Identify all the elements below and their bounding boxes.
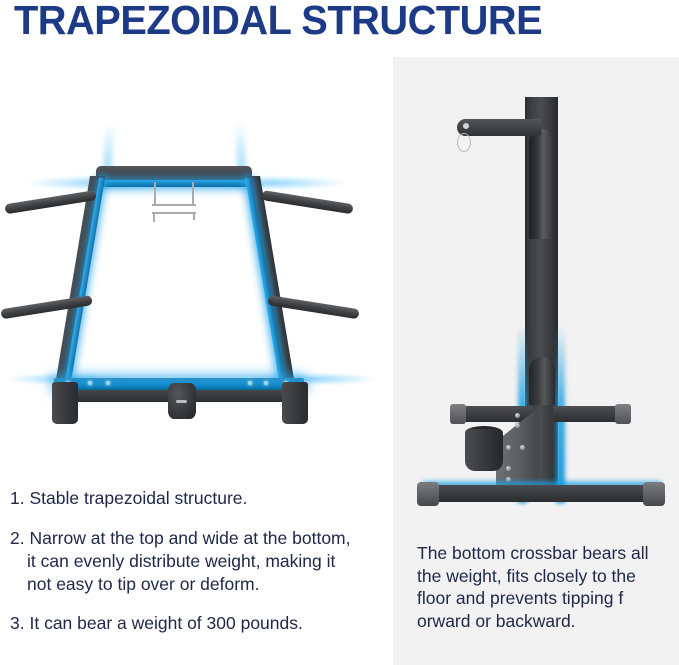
base-foot-left bbox=[417, 482, 439, 506]
post-sleeve-upper bbox=[529, 129, 555, 239]
list-item-text-line3: not easy to tip over or deform. bbox=[27, 574, 259, 594]
caption-line: orward or backward. bbox=[417, 610, 667, 633]
caption-line: floor and prevents tipping f bbox=[417, 587, 667, 610]
list-item-text-line1: Narrow at the top and wide at the bottom… bbox=[29, 528, 350, 548]
base-foot-left bbox=[52, 382, 78, 424]
crossbar-end-cap-left bbox=[450, 404, 466, 424]
crossbar-end-cap-right bbox=[615, 404, 631, 424]
page-title: TRAPEZOIDAL STRUCTURE bbox=[14, 0, 542, 42]
bottom-base-bar bbox=[421, 485, 663, 502]
hanger-wire-left bbox=[154, 182, 156, 204]
bolt bbox=[520, 445, 525, 450]
bolt bbox=[264, 381, 268, 385]
hanger-bar-upper bbox=[152, 204, 196, 206]
hanger-wire-right bbox=[192, 182, 194, 204]
list-item-number: 2. bbox=[10, 528, 25, 548]
hanger-hook-right bbox=[193, 212, 195, 220]
right-caption: The bottom crossbar bears all the weight… bbox=[417, 542, 667, 632]
weight-peg-upper-left bbox=[4, 190, 96, 214]
cup-holder bbox=[465, 429, 503, 471]
product-image-front-view bbox=[0, 120, 390, 465]
caption-line: the weight, fits closely to the bbox=[417, 565, 667, 588]
list-item: 1. Stable trapezoidal structure. bbox=[10, 487, 382, 510]
product-image-side-view bbox=[393, 57, 679, 527]
list-item-text: It can bear a weight of 300 pounds. bbox=[29, 613, 302, 633]
stabilizer-crossbar-left bbox=[455, 406, 533, 422]
top-crossbar-glow bbox=[99, 180, 249, 187]
hanger-hook bbox=[153, 212, 155, 222]
base-foot-right bbox=[643, 482, 665, 506]
bolt bbox=[515, 413, 520, 418]
feature-list: 1. Stable trapezoidal structure. 2. Narr… bbox=[10, 487, 382, 652]
caption-line: The bottom crossbar bears all bbox=[417, 542, 667, 565]
list-item: 3. It can bear a weight of 300 pounds. bbox=[10, 612, 382, 635]
bolt bbox=[248, 381, 252, 385]
bolt bbox=[88, 381, 92, 385]
base-foot-right bbox=[282, 382, 308, 424]
bolt bbox=[506, 445, 511, 450]
center-knob-slot bbox=[176, 400, 187, 403]
arm-pin-hole bbox=[463, 123, 469, 129]
bolt bbox=[106, 381, 110, 385]
list-item-text-line2: it can evenly distribute weight, making … bbox=[27, 551, 335, 571]
bolt bbox=[515, 423, 520, 428]
list-item-number: 1. bbox=[10, 488, 25, 508]
hanger-bar-lower bbox=[152, 212, 196, 214]
list-item-number: 3. bbox=[10, 613, 25, 633]
weight-peg-upper-right bbox=[261, 190, 353, 214]
pin-ring-icon bbox=[457, 133, 471, 152]
list-item: 2. Narrow at the top and wide at the bot… bbox=[10, 527, 382, 596]
top-support-arm bbox=[457, 119, 541, 136]
post-sleeve-lower bbox=[529, 357, 555, 405]
infographic-page: TRAPEZOIDAL STRUCTURE bbox=[0, 0, 679, 665]
list-item-text: Stable trapezoidal structure. bbox=[29, 488, 247, 508]
bolt bbox=[506, 466, 511, 471]
